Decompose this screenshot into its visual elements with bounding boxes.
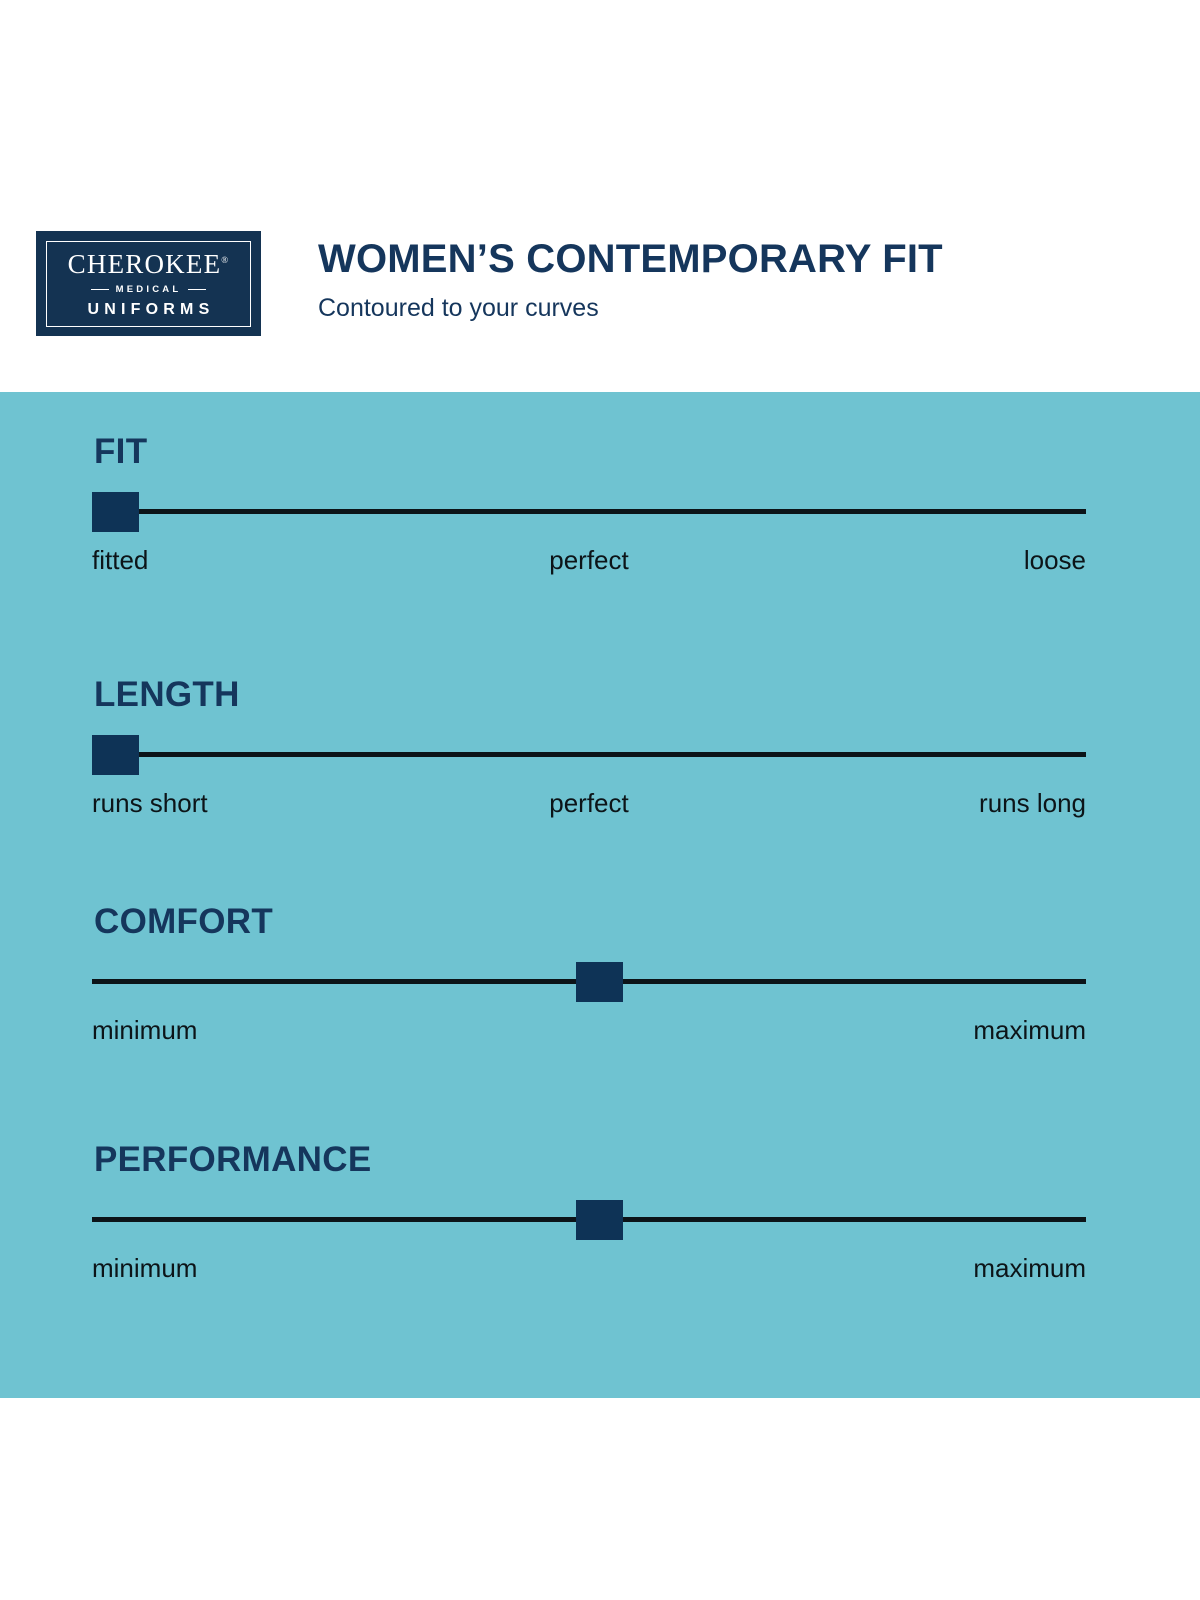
slider-heading-length: LENGTH — [94, 677, 1086, 712]
slider-label-left: minimum — [92, 1014, 197, 1047]
slider-label-left: minimum — [92, 1252, 197, 1285]
slider-label-left: fitted — [92, 544, 148, 577]
slider-group-performance: PERFORMANCE minimum maximum — [92, 1142, 1086, 1286]
logo-brand-name-text: CHEROKEE — [68, 249, 222, 279]
logo-medical-text: MEDICAL — [116, 285, 182, 295]
slider-track-line — [92, 509, 1086, 514]
slider-handle-fit[interactable] — [92, 492, 139, 532]
slider-labels-comfort: minimum maximum — [92, 1014, 1086, 1048]
fit-rating-panel: FIT fitted perfect loose LENGTH runs sho… — [0, 392, 1200, 1398]
slider-track-line — [92, 752, 1086, 757]
logo-medical-row: MEDICAL — [91, 285, 207, 295]
slider-label-center: perfect — [549, 787, 629, 820]
logo-rule-left-icon — [91, 289, 109, 291]
page-title: WOMEN’S CONTEMPORARY FIT — [318, 238, 943, 280]
logo-uniforms-text: UNIFORMS — [83, 302, 215, 318]
slider-group-fit: FIT fitted perfect loose — [92, 434, 1086, 578]
slider-group-length: LENGTH runs short perfect runs long — [92, 677, 1086, 821]
slider-handle-length[interactable] — [92, 735, 139, 775]
slider-group-comfort: COMFORT minimum maximum — [92, 904, 1086, 1048]
slider-labels-length: runs short perfect runs long — [92, 787, 1086, 821]
slider-label-right: runs long — [979, 787, 1086, 820]
fit-guide-page: CHEROKEE® MEDICAL UNIFORMS WOMEN’S CONTE… — [0, 0, 1200, 1600]
title-block: WOMEN’S CONTEMPORARY FIT Contoured to yo… — [318, 238, 943, 323]
slider-label-right: maximum — [973, 1014, 1086, 1047]
slider-heading-fit: FIT — [94, 434, 1086, 469]
slider-handle-comfort[interactable] — [576, 962, 623, 1002]
slider-heading-comfort: COMFORT — [94, 904, 1086, 939]
slider-label-center: perfect — [549, 544, 629, 577]
slider-handle-performance[interactable] — [576, 1200, 623, 1240]
logo-inner-frame: CHEROKEE® MEDICAL UNIFORMS — [46, 241, 251, 327]
slider-labels-fit: fitted perfect loose — [92, 544, 1086, 578]
brand-logo: CHEROKEE® MEDICAL UNIFORMS — [36, 231, 261, 336]
slider-track-length[interactable] — [92, 734, 1086, 774]
slider-label-left: runs short — [92, 787, 208, 820]
page-header: CHEROKEE® MEDICAL UNIFORMS WOMEN’S CONTE… — [0, 0, 1200, 392]
logo-brand-name: CHEROKEE® — [68, 251, 230, 278]
slider-label-right: loose — [1024, 544, 1086, 577]
slider-track-comfort[interactable] — [92, 961, 1086, 1001]
slider-heading-performance: PERFORMANCE — [94, 1142, 1086, 1177]
slider-label-right: maximum — [973, 1252, 1086, 1285]
slider-labels-performance: minimum maximum — [92, 1252, 1086, 1286]
slider-track-fit[interactable] — [92, 491, 1086, 531]
slider-track-performance[interactable] — [92, 1199, 1086, 1239]
page-subtitle: Contoured to your curves — [318, 293, 943, 323]
registered-trademark-icon: ® — [221, 255, 229, 265]
logo-rule-right-icon — [188, 289, 206, 291]
